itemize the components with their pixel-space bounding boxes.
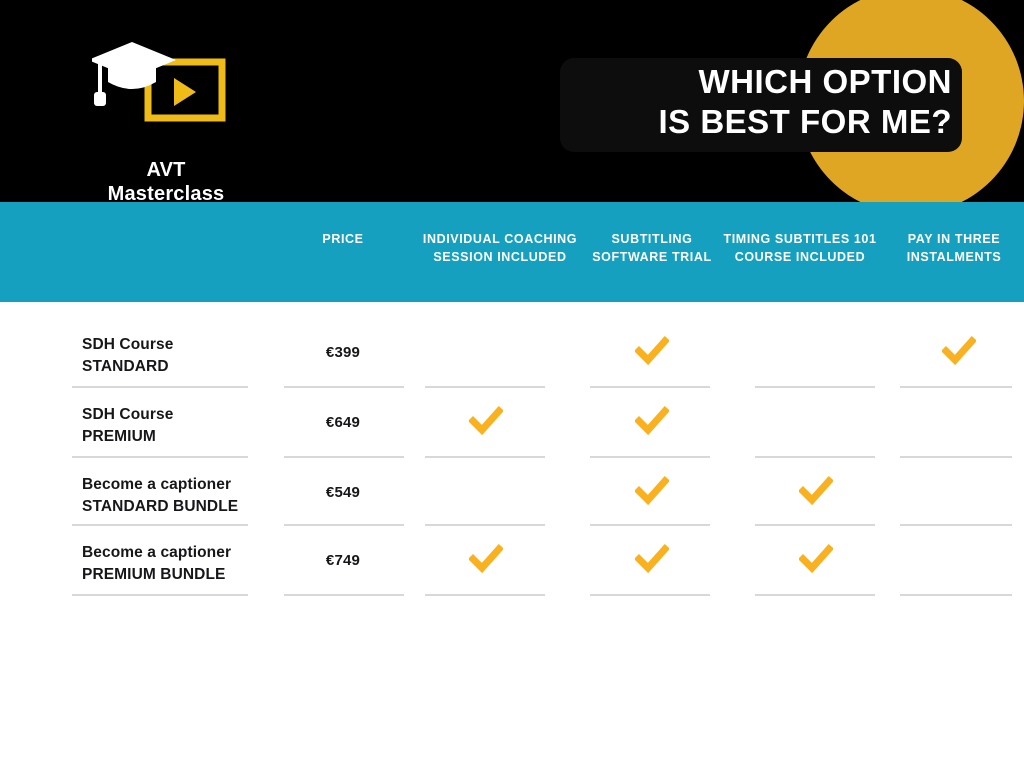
cell-subtitling: [590, 526, 714, 596]
column-header-subtitling-line1: SUBTITLING: [588, 230, 716, 248]
row-price: €749: [282, 552, 404, 569]
row-label-line2: PREMIUM BUNDLE: [82, 564, 272, 586]
table-row: SDH Course STANDARD €399: [0, 318, 1024, 388]
checkmark-icon: [469, 542, 503, 576]
column-header-instalments-line1: PAY IN THREE: [884, 230, 1024, 248]
row-price: €649: [282, 414, 404, 431]
row-label-line1: SDH Course: [82, 334, 272, 356]
row-label-line1: Become a captioner: [82, 542, 272, 564]
row-label-cell: SDH Course STANDARD: [72, 318, 270, 388]
cell-instalments: [900, 318, 1018, 388]
row-price-cell: €749: [282, 526, 404, 596]
cell-coaching: [425, 526, 547, 596]
row-separator: [284, 594, 404, 596]
table-row: Become a captioner STANDARD BUNDLE €549: [0, 458, 1024, 526]
cell-subtitling: [590, 318, 714, 388]
row-price: €549: [282, 484, 404, 501]
cell-timing: [755, 318, 877, 388]
cell-instalments: [900, 526, 1018, 596]
row-price-cell: €649: [282, 388, 404, 458]
checkmark-icon: [635, 334, 669, 368]
row-price-cell: €399: [282, 318, 404, 388]
checkmark-icon: [635, 542, 669, 576]
page-title-line1: WHICH OPTION: [560, 62, 952, 102]
cell-coaching: [425, 388, 547, 458]
row-separator: [900, 594, 1012, 596]
brand-logo-line1: AVT: [92, 158, 240, 182]
cell-subtitling: [590, 388, 714, 458]
column-header-timing-line2: COURSE INCLUDED: [712, 248, 888, 266]
column-header-coaching: INDIVIDUAL COACHING SESSION INCLUDED: [404, 230, 596, 266]
graduation-cap-video-icon: [92, 40, 240, 128]
row-separator: [425, 594, 545, 596]
row-label-line1: SDH Course: [82, 404, 272, 426]
column-header-timing-line1: TIMING SUBTITLES 101: [712, 230, 888, 248]
cell-timing: [755, 458, 877, 526]
checkmark-icon: [799, 542, 833, 576]
row-separator: [755, 594, 875, 596]
row-separator: [72, 594, 248, 596]
column-header-coaching-line2: SESSION INCLUDED: [404, 248, 596, 266]
row-label: Become a captioner PREMIUM BUNDLE: [82, 542, 272, 586]
column-header-subtitling-line2: SOFTWARE TRIAL: [588, 248, 716, 266]
column-header-instalments-line2: INSTALMENTS: [884, 248, 1024, 266]
column-header-timing: TIMING SUBTITLES 101 COURSE INCLUDED: [712, 230, 888, 266]
row-label-cell: Become a captioner STANDARD BUNDLE: [72, 458, 270, 526]
comparison-table-body: SDH Course STANDARD €399: [0, 302, 1024, 768]
brand-logo-text: AVT Masterclass: [92, 158, 240, 202]
cell-coaching: [425, 458, 547, 526]
row-label-cell: SDH Course PREMIUM: [72, 388, 270, 458]
checkmark-icon: [799, 474, 833, 508]
row-label-cell: Become a captioner PREMIUM BUNDLE: [72, 526, 270, 596]
cell-instalments: [900, 388, 1018, 458]
row-label: SDH Course PREMIUM: [82, 404, 272, 448]
row-label-line2: PREMIUM: [82, 426, 272, 448]
row-label-line2: STANDARD: [82, 356, 272, 378]
cell-instalments: [900, 458, 1018, 526]
brand-logo: AVT Masterclass: [92, 40, 240, 170]
cell-subtitling: [590, 458, 714, 526]
pricing-comparison-poster: WHICH OPTION IS BEST FOR ME? AVT Masterc…: [0, 0, 1024, 768]
cell-timing: [755, 526, 877, 596]
column-header-price-line1: PRICE: [282, 230, 404, 248]
cell-coaching: [425, 318, 547, 388]
column-header-instalments: PAY IN THREE INSTALMENTS: [884, 230, 1024, 266]
table-row: Become a captioner PREMIUM BUNDLE €749: [0, 526, 1024, 596]
header-band: WHICH OPTION IS BEST FOR ME? AVT Masterc…: [0, 0, 1024, 202]
checkmark-icon: [469, 404, 503, 438]
row-label-line2: STANDARD BUNDLE: [82, 496, 272, 518]
page-title-line2: IS BEST FOR ME?: [560, 102, 952, 142]
checkmark-icon: [635, 404, 669, 438]
brand-logo-line2: Masterclass: [92, 182, 240, 202]
column-header-price: PRICE: [282, 230, 404, 248]
row-label-line1: Become a captioner: [82, 474, 272, 496]
row-label: Become a captioner STANDARD BUNDLE: [82, 474, 272, 518]
column-header-subtitling: SUBTITLING SOFTWARE TRIAL: [588, 230, 716, 266]
row-label: SDH Course STANDARD: [82, 334, 272, 378]
row-price: €399: [282, 344, 404, 361]
cell-timing: [755, 388, 877, 458]
checkmark-icon: [635, 474, 669, 508]
row-price-cell: €549: [282, 458, 404, 526]
column-header-coaching-line1: INDIVIDUAL COACHING: [404, 230, 596, 248]
checkmark-icon: [942, 334, 976, 368]
page-title: WHICH OPTION IS BEST FOR ME?: [560, 62, 952, 142]
table-row: SDH Course PREMIUM €649: [0, 388, 1024, 458]
row-separator: [590, 594, 710, 596]
